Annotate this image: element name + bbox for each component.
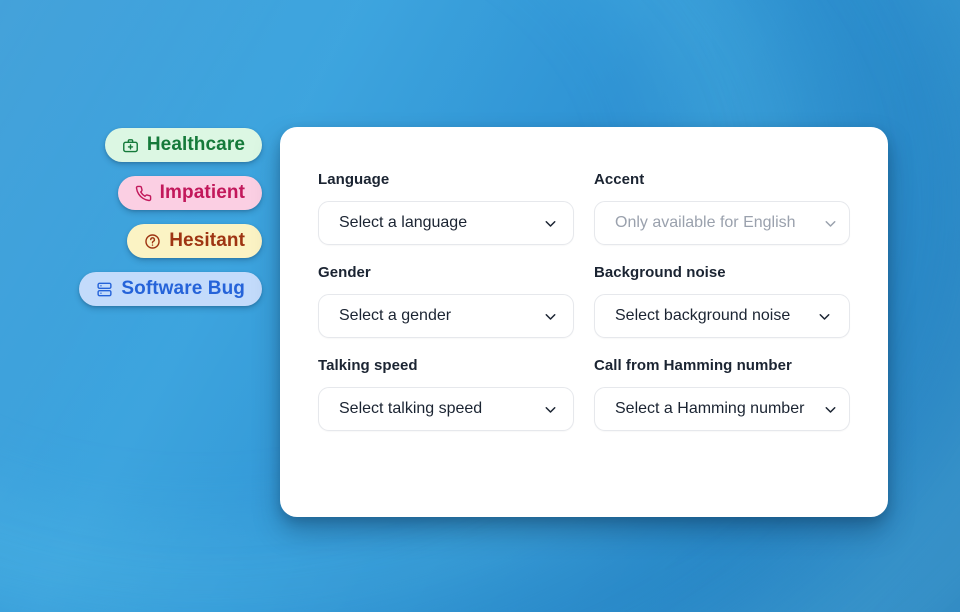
select-value: Only available for English [615,214,824,232]
server-icon [96,281,113,298]
select-value: Select a language [339,214,542,232]
select-value: Select a gender [339,307,542,325]
select-value: Select background noise [615,307,816,325]
tag-label: Hesitant [169,230,245,252]
tag-label: Impatient [160,182,245,204]
field-label: Call from Hamming number [594,357,850,374]
field-label: Accent [594,171,850,188]
background-noise-select[interactable]: Select background noise [594,294,850,338]
field-hamming-number: Call from Hamming number Select a Hammin… [594,357,850,431]
tag-hesitant[interactable]: Hesitant [127,224,262,258]
field-accent: Accent Only available for English [594,171,850,245]
field-background-noise: Background noise Select background noise [594,264,850,338]
select-value: Select talking speed [339,400,542,418]
field-label: Gender [318,264,574,281]
chevron-down-icon [542,215,559,232]
field-language: Language Select a language [318,171,574,245]
gender-select[interactable]: Select a gender [318,294,574,338]
question-circle-icon [144,233,161,250]
tag-label: Software Bug [121,278,245,300]
chevron-down-icon [542,401,559,418]
settings-card: Language Select a language Accent Only a… [280,127,888,517]
app-background: Healthcare Impatient Hesitant [0,0,960,612]
talking-speed-select[interactable]: Select talking speed [318,387,574,431]
field-label: Language [318,171,574,188]
field-label: Talking speed [318,357,574,374]
phone-icon [135,185,152,202]
field-talking-speed: Talking speed Select talking speed [318,357,574,431]
hamming-number-select[interactable]: Select a Hamming number [594,387,850,431]
chevron-down-icon [822,401,839,418]
medical-kit-icon [122,137,139,154]
chevron-down-icon [816,308,833,325]
tag-list: Healthcare Impatient Hesitant [0,128,262,306]
tag-software-bug[interactable]: Software Bug [79,272,262,306]
settings-form: Language Select a language Accent Only a… [318,171,850,431]
tag-healthcare[interactable]: Healthcare [105,128,262,162]
select-value: Select a Hamming number [615,400,824,418]
language-select[interactable]: Select a language [318,201,574,245]
chevron-down-icon [822,215,839,232]
chevron-down-icon [542,308,559,325]
tag-label: Healthcare [147,134,245,156]
field-gender: Gender Select a gender [318,264,574,338]
field-label: Background noise [594,264,850,281]
accent-select[interactable]: Only available for English [594,201,850,245]
tag-impatient[interactable]: Impatient [118,176,262,210]
